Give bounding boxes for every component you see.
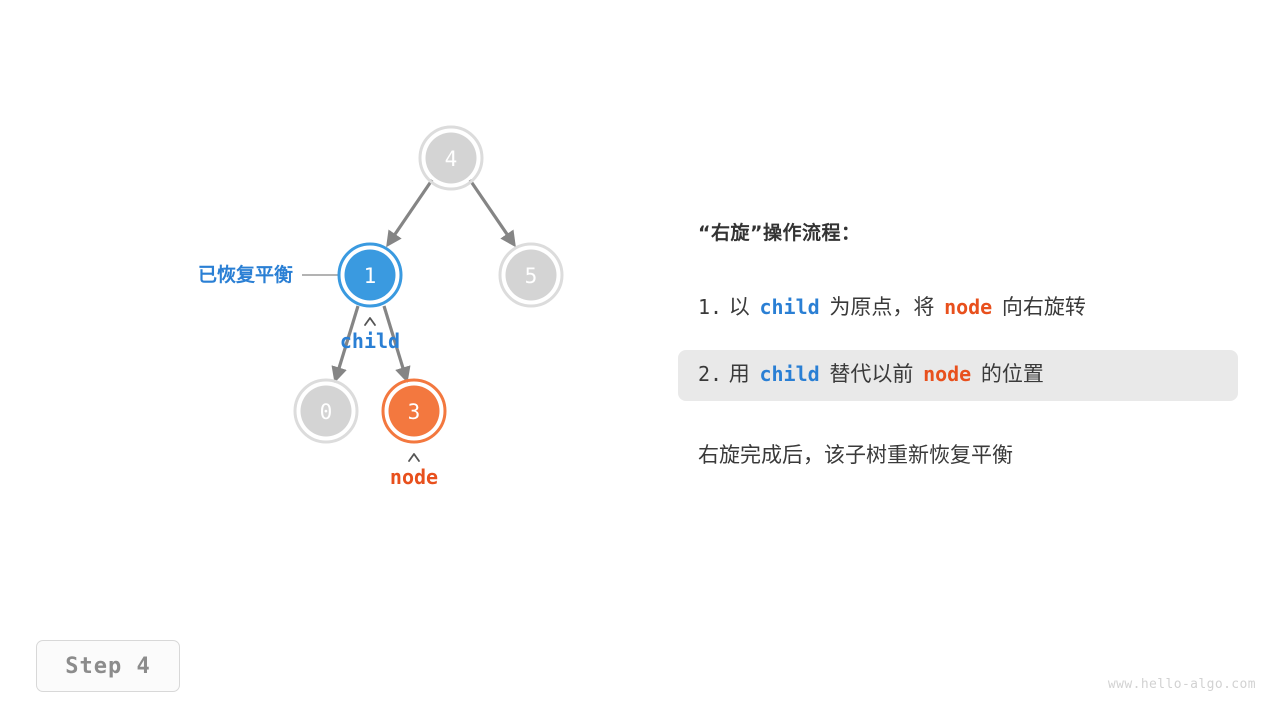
node-pointer-label: node: [390, 465, 438, 489]
watermark: www.hello-algo.com: [1108, 677, 1256, 692]
flow-step-2-part-0: 用: [729, 362, 750, 386]
flow-step-1: 1. 以 child 为原点，将 node 向右旋转: [678, 283, 1238, 334]
flow-step-2-part-4: 的位置: [981, 362, 1044, 386]
node-0-value: 0: [320, 400, 333, 424]
child-pointer-label: child: [340, 329, 400, 353]
flow-step-1-index: 1.: [698, 295, 722, 319]
tree-node-4[interactable]: 4: [420, 127, 482, 189]
flow-step-1-part-4: 向右旋转: [1002, 295, 1086, 319]
flow-step-1-part-2: 为原点，将: [829, 295, 934, 319]
edge-4-to-5: [470, 180, 513, 243]
flow-step-2-index: 2.: [698, 362, 722, 386]
edge-4-to-1: [389, 180, 432, 243]
node-5-value: 5: [525, 264, 538, 288]
node-1-value: 1: [364, 264, 377, 288]
tree-node-1[interactable]: 1: [339, 244, 401, 306]
flow-step-2: 2. 用 child 替代以前 node 的位置: [678, 350, 1238, 401]
tree-node-5[interactable]: 5: [500, 244, 562, 306]
tree-diagram-panel: 4 1 5 0 3 child: [0, 0, 660, 720]
flow-step-2-code-node: node: [920, 362, 974, 386]
flow-step-1-code-node: node: [941, 295, 995, 319]
tree-node-3[interactable]: 3: [383, 380, 445, 442]
balanced-annotation-label: 已恢复平衡: [198, 263, 293, 286]
step-badge: Step 4: [36, 640, 180, 692]
tree-node-0[interactable]: 0: [295, 380, 357, 442]
child-caret-icon: [365, 318, 375, 325]
flow-title: “右旋”操作流程：: [698, 218, 1238, 245]
flow-step-2-part-2: 替代以前: [829, 362, 913, 386]
flow-step-2-code-child: child: [756, 362, 822, 386]
pointer-node: node: [390, 454, 438, 489]
node-3-value: 3: [408, 400, 421, 424]
pointer-child: child: [340, 318, 400, 353]
flow-step-1-code-child: child: [756, 295, 822, 319]
node-caret-icon: [409, 454, 419, 461]
flow-footnote: 右旋完成后，该子树重新恢复平衡: [698, 439, 1238, 469]
flow-step-1-part-0: 以: [729, 295, 750, 319]
node-4-value: 4: [445, 147, 458, 171]
tree-diagram-svg: 4 1 5 0 3 child: [0, 0, 660, 720]
explanation-panel: “右旋”操作流程： 1. 以 child 为原点，将 node 向右旋转 2. …: [678, 218, 1238, 469]
